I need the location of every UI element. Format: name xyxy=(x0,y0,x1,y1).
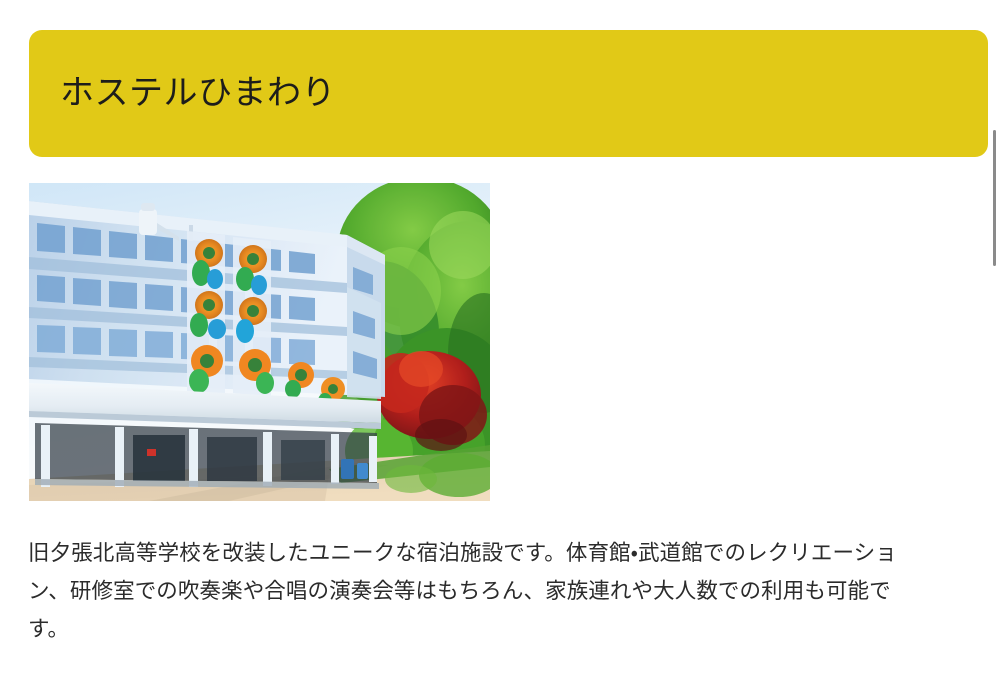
facility-description: 旧夕張北高等学校を改装したユニークな宿泊施設です。体育館・武道館でのレクリエーシ… xyxy=(28,534,974,648)
page-title-banner: ホステルひまわり xyxy=(29,30,988,157)
vertical-scrollbar[interactable] xyxy=(988,0,1000,680)
facility-photo-image xyxy=(29,183,490,501)
description-line: す。 xyxy=(28,610,974,648)
facility-photo xyxy=(29,183,490,501)
page-root: ホステルひまわり xyxy=(0,0,1000,680)
page-title: ホステルひまわり xyxy=(60,72,336,115)
description-line: ン、研修室での吹奏楽や合唱の演奏会等はもちろん、家族連れや大人数での利用も可能で xyxy=(28,572,974,610)
description-line: 旧夕張北高等学校を改装したユニークな宿泊施設です。体育館・武道館でのレクリエーシ… xyxy=(28,534,974,572)
scrollbar-thumb[interactable] xyxy=(993,130,996,266)
